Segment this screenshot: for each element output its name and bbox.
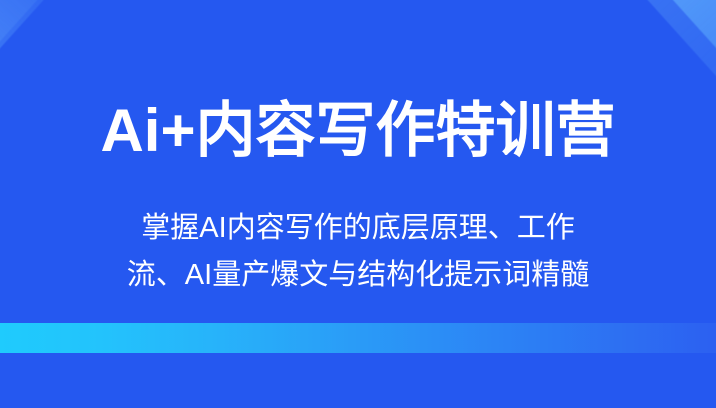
course-promo-banner: Ai+内容写作特训营 掌握AI内容写作的底层原理、工作 流、AI量产爆文与结构化… — [0, 0, 716, 408]
banner-subtitle: 掌握AI内容写作的底层原理、工作 流、AI量产爆文与结构化提示词精髓 — [30, 205, 686, 299]
banner-subtitle-line-1: 掌握AI内容写作的底层原理、工作 — [30, 205, 686, 252]
banner-content: Ai+内容写作特训营 掌握AI内容写作的底层原理、工作 流、AI量产爆文与结构化… — [0, 0, 716, 408]
banner-subtitle-line-2: 流、AI量产爆文与结构化提示词精髓 — [30, 252, 686, 299]
banner-title: Ai+内容写作特训营 — [0, 96, 716, 167]
